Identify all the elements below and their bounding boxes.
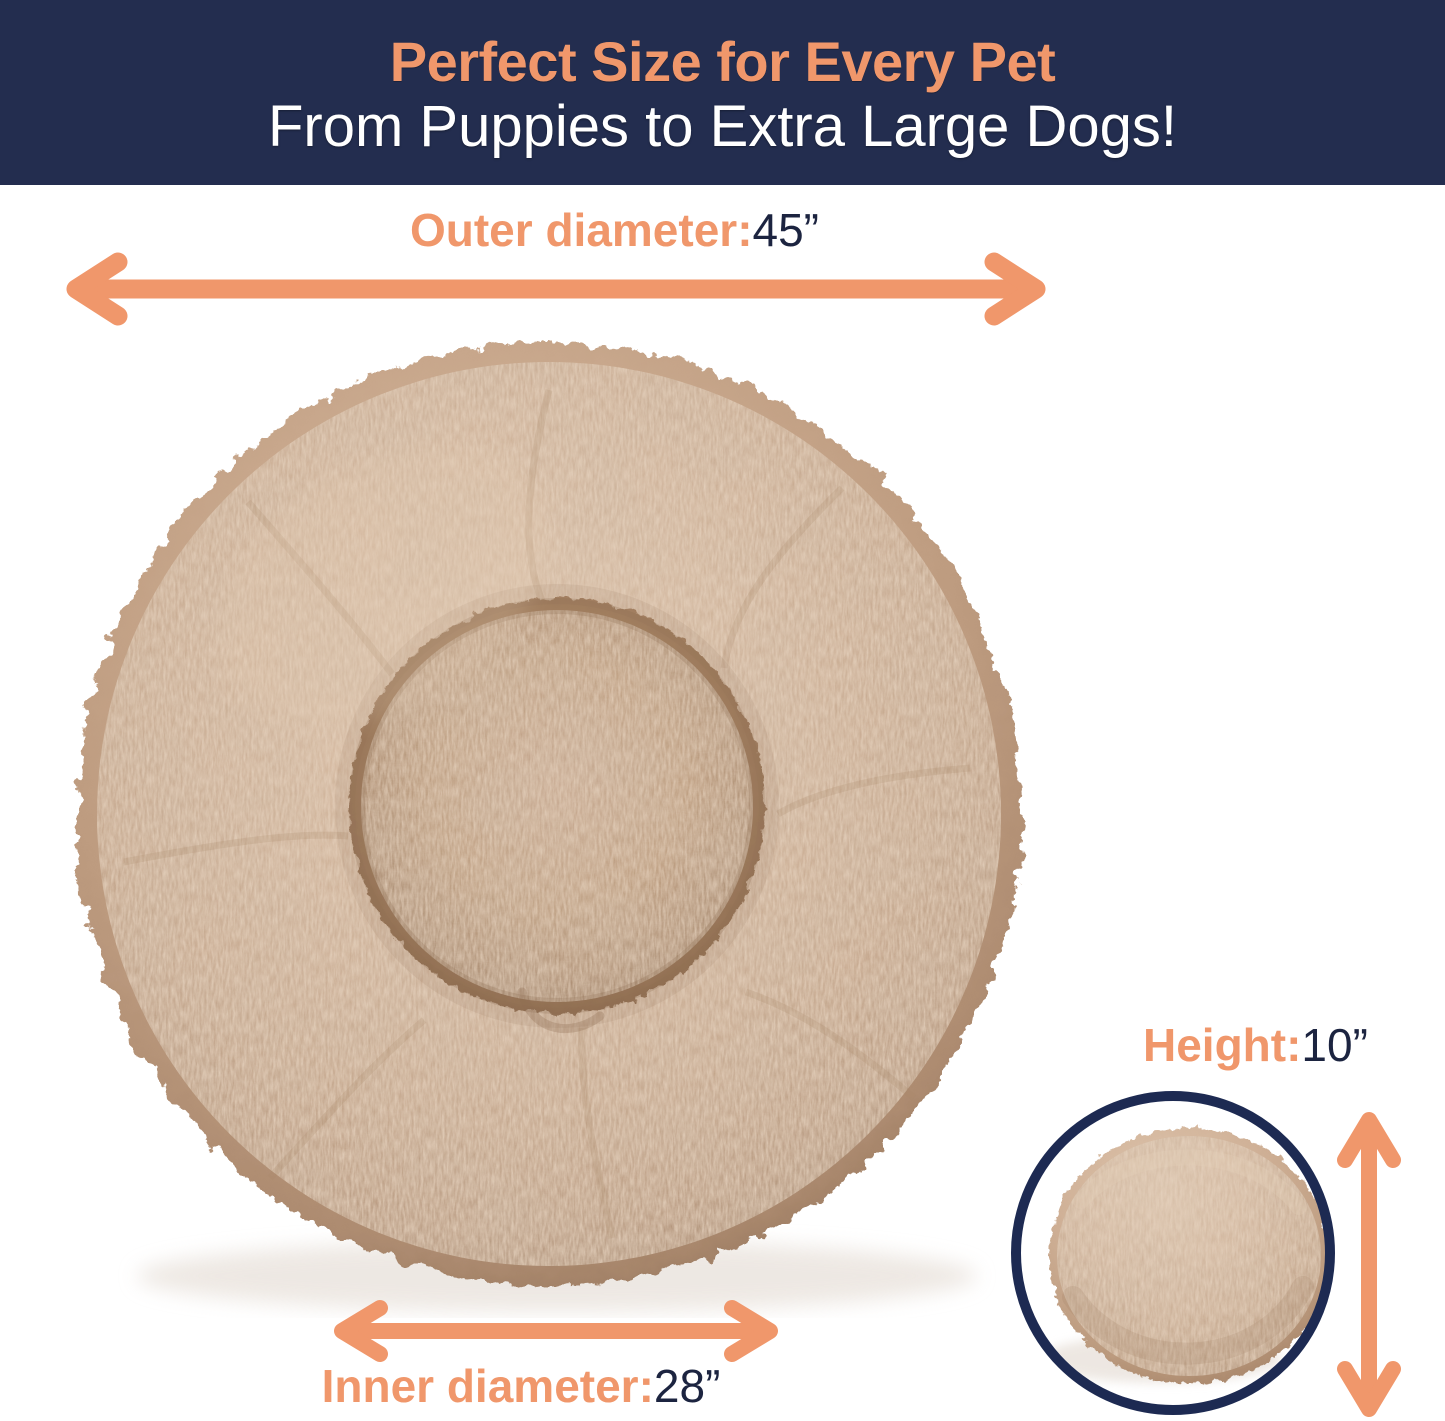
height-label: Height:10” [1143, 1022, 1368, 1068]
banner-title: Perfect Size for Every Pet [390, 33, 1056, 92]
outer-diameter-label-text: Outer diameter: [410, 204, 753, 256]
height-value: 10” [1301, 1019, 1367, 1071]
infographic-page: Perfect Size for Every Pet From Puppies … [0, 0, 1445, 1421]
outer-diameter-label: Outer diameter:45” [0, 207, 1445, 253]
inner-diameter-value: 28” [654, 1360, 720, 1412]
pet-bed-top-view [52, 316, 1052, 1318]
inner-diameter-arrow-icon [330, 1300, 782, 1362]
inner-diameter-label: Inner diameter:28” [0, 1363, 1060, 1409]
outer-diameter-value: 45” [753, 204, 819, 256]
height-label-text: Height: [1143, 1019, 1301, 1071]
height-arrow-icon [1336, 1108, 1402, 1421]
height-callout-ring [1011, 1091, 1335, 1415]
outer-diameter-arrow-icon [60, 252, 1052, 326]
banner-subtitle: From Puppies to Extra Large Dogs! [268, 97, 1177, 158]
header-banner: Perfect Size for Every Pet From Puppies … [0, 0, 1445, 185]
inner-diameter-label-text: Inner diameter: [322, 1360, 654, 1412]
main-product-image [52, 316, 1052, 1318]
